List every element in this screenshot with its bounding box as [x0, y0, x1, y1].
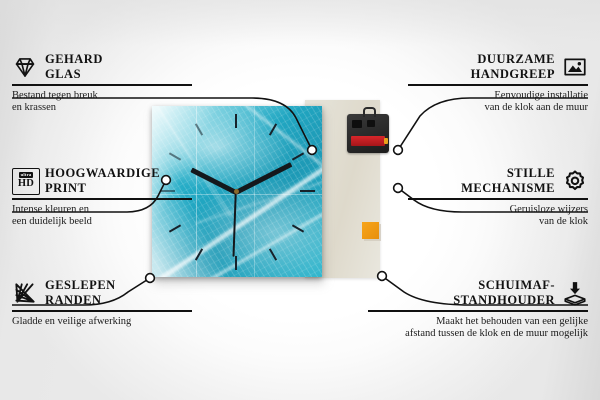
feature-title: GEHARDGLAS [45, 52, 103, 81]
feature-gehard-glas[interactable]: GEHARDGLAS Bestand tegen breuken krassen [12, 52, 192, 115]
feature-geslepen-randen[interactable]: GESLEPENRANDEN Gladde en veilige afwerki… [12, 278, 192, 328]
feature-description: Eenvoudige installatievan de klok aan de… [408, 90, 588, 115]
ultra-hd-hd-label: HD [18, 179, 34, 190]
feature-title: STILLEMECHANISME [461, 166, 555, 195]
feature-description: Geruisloze wijzersvan de klok [408, 204, 588, 229]
diamond-icon [12, 54, 38, 80]
battery [351, 136, 385, 146]
feature-schuimafstandhouder[interactable]: SCHUIMAF-STANDHOUDER Maakt het behouden … [368, 278, 588, 341]
feature-divider [368, 310, 588, 312]
ultra-hd-icon: ultra HD [12, 168, 38, 194]
clock-tick [235, 256, 237, 270]
feature-divider [12, 198, 192, 200]
clock-mechanism [347, 114, 389, 153]
connector-dot-duurzame-handgreep [394, 146, 403, 155]
glass-reflection-line [254, 106, 255, 277]
mechanism-knob [352, 120, 362, 128]
mechanism-knob [367, 120, 375, 127]
infographic-canvas: GEHARDGLAS Bestand tegen breuken krassen… [0, 0, 600, 400]
feature-duurzame-handgreep[interactable]: DUURZAMEHANDGREEP Eenvoudige installatie… [408, 52, 588, 115]
mechanism-shaft [363, 107, 376, 117]
feature-divider [12, 84, 192, 86]
feature-description: Intense kleuren eneen duidelijk beeld [12, 204, 192, 229]
feature-title: HOOGWAARDIGEPRINT [45, 166, 160, 195]
feature-divider [408, 198, 588, 200]
feature-stille-mechanisme[interactable]: STILLEMECHANISME Geruisloze wijzersvan d… [408, 166, 588, 229]
diagonal-lines-icon [12, 280, 38, 306]
feature-hoogwaardige-print[interactable]: ultra HD HOOGWAARDIGEPRINT Intense kleur… [12, 166, 192, 229]
foam-spacer [362, 222, 379, 239]
clock-tick [300, 190, 315, 192]
feature-divider [12, 310, 192, 312]
feature-description: Gladde en veilige afwerking [12, 316, 192, 329]
picture-frame-icon [562, 54, 588, 80]
connector-dot-stille-mechanisme [394, 184, 403, 193]
feature-divider [408, 84, 588, 86]
feature-title: GESLEPENRANDEN [45, 278, 116, 307]
glass-reflection-line [196, 106, 197, 277]
clock-tick [235, 114, 237, 128]
clock-hand-hub [234, 189, 239, 194]
feature-description: Bestand tegen breuken krassen [12, 90, 192, 115]
arrow-onto-block-icon [562, 280, 588, 306]
feature-title: SCHUIMAF-STANDHOUDER [453, 278, 555, 307]
feature-title: DUURZAMEHANDGREEP [471, 52, 555, 81]
gear-icon [562, 168, 588, 194]
feature-description: Maakt het behouden van een gelijkeafstan… [368, 316, 588, 341]
